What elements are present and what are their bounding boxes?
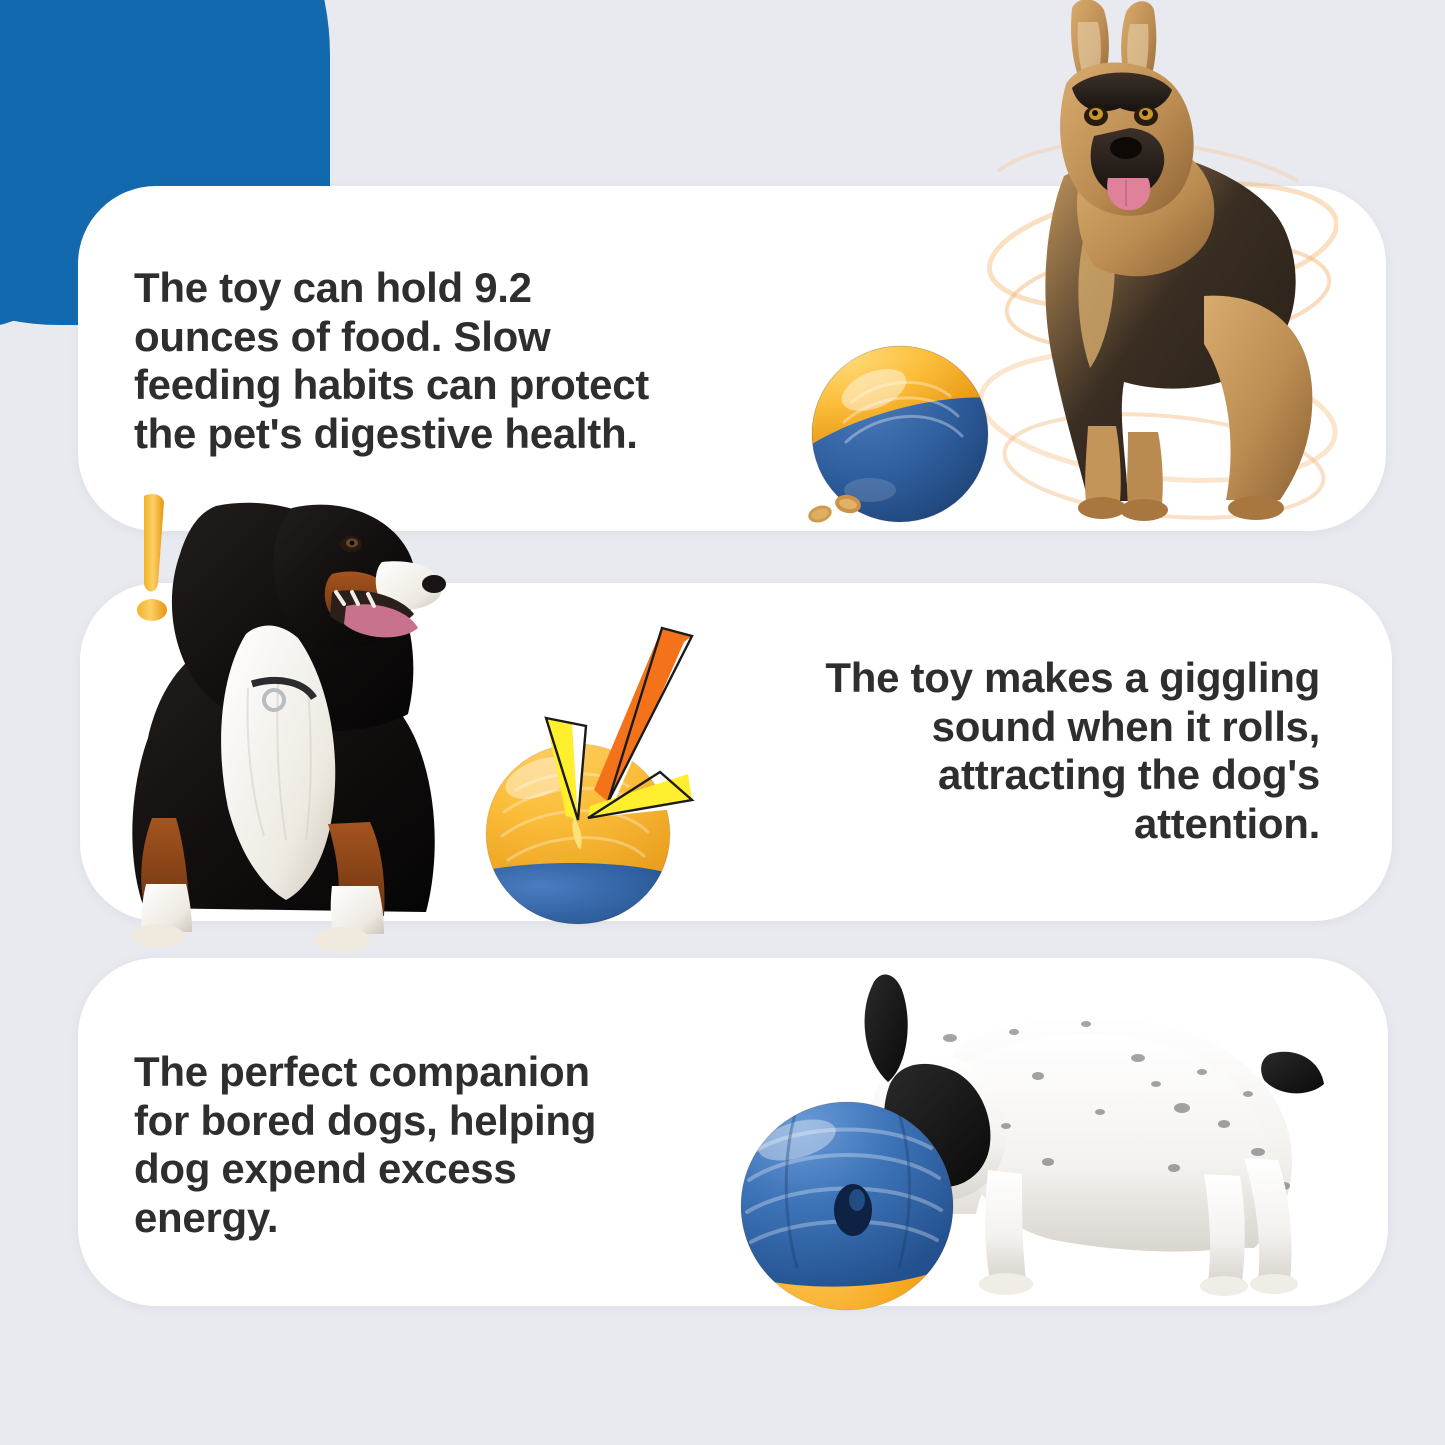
eye-right (1134, 106, 1158, 126)
ear-right (1121, 1, 1156, 102)
feature-text-energy: The perfect companion for bored dogs, he… (134, 1048, 674, 1243)
eye-left (1084, 106, 1108, 126)
nose (1110, 137, 1142, 159)
paw (132, 924, 184, 948)
paw (314, 927, 370, 953)
feature-text-sound: The toy makes a giggling sound when it r… (740, 654, 1320, 849)
infographic-canvas: The toy can hold 9.2 ounces of food. Slo… (0, 0, 1445, 1445)
feature-text-capacity: The toy can hold 9.2 ounces of food. Slo… (134, 264, 734, 459)
ear-left (1071, 0, 1109, 100)
eye (340, 536, 362, 552)
